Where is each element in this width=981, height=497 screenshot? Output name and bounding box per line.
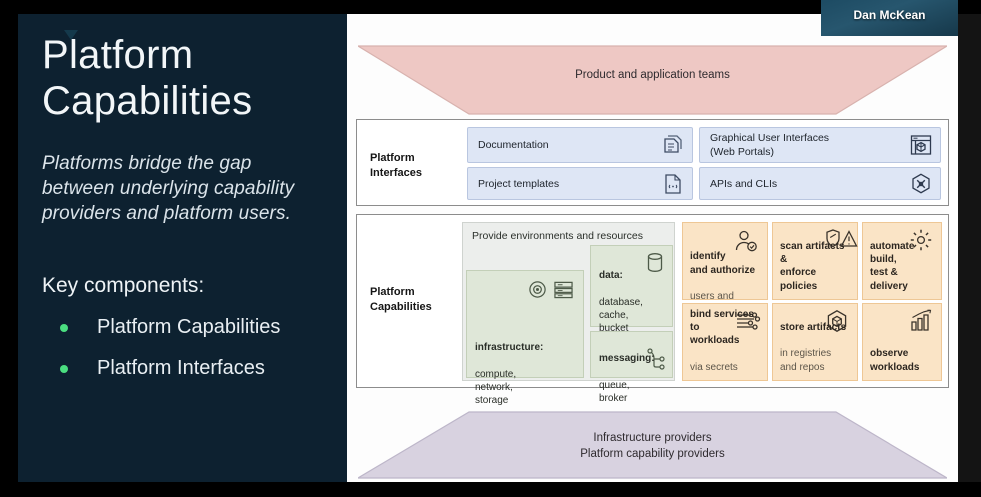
- scan-card-text: scan artifacts & enforce policies: [780, 227, 853, 293]
- bar-chart-growth-icon: [909, 309, 935, 333]
- infrastructure-card-body: compute, network, storage: [475, 369, 516, 406]
- capability-card-data[interactable]: data: database, cache, bucket: [590, 245, 673, 327]
- participant-name-label: Dan McKean: [821, 8, 958, 22]
- screenshot-root: Platform Capabilities Platforms bridge t…: [0, 0, 981, 497]
- capability-card-scan-artifacts[interactable]: scan artifacts & enforce policies: [772, 222, 858, 300]
- video-tile-pointer-icon: [64, 30, 78, 40]
- data-card-text: data: database, cache, bucket: [599, 256, 643, 335]
- automate-card-title: automate build, test & delivery: [870, 241, 914, 292]
- capability-card-messaging[interactable]: messaging: queue, broker: [590, 331, 673, 378]
- right-edge-strip: [958, 14, 981, 482]
- key-components-list: Platform Capabilities Platform Interface…: [42, 316, 323, 380]
- list-item-label: Platform Interfaces: [97, 357, 265, 380]
- automate-card-text: automate build, test & delivery: [870, 227, 937, 293]
- store-card-title: store artifacts: [780, 322, 846, 333]
- store-card-text: store artifacts in registries and repos: [780, 308, 853, 374]
- bullet-dot-icon: [60, 365, 68, 373]
- page-title: Platform Capabilities: [42, 32, 323, 125]
- hexagon-tools-icon: [909, 172, 933, 196]
- messaging-card-title: messaging:: [599, 353, 655, 364]
- chip-icon: [528, 280, 547, 304]
- infrastructure-icon-group: [528, 280, 574, 304]
- identify-card-title: identify and authorize: [690, 251, 755, 275]
- platform-interfaces-section: Platform Interfaces Documentation Graphi…: [356, 119, 949, 206]
- participant-video-tile[interactable]: Dan McKean: [821, 0, 958, 36]
- server-rack-icon: [553, 280, 574, 304]
- diagram-slide-area: Product and application teams Platform I…: [347, 14, 958, 482]
- list-item: Platform Capabilities: [42, 316, 323, 339]
- bind-card-body: via secrets: [690, 362, 738, 373]
- platform-capabilities-label: Platform Capabilities: [370, 285, 432, 315]
- bind-card-title: bind services to workloads: [690, 309, 754, 347]
- product-application-teams-band: Product and application teams: [358, 45, 947, 115]
- observe-card-text: observe workloads: [870, 334, 937, 374]
- data-card-body: database, cache, bucket: [599, 297, 643, 334]
- interface-tile-documentation[interactable]: Documentation: [467, 127, 693, 163]
- messaging-card-text: messaging: queue, broker: [599, 339, 655, 405]
- bottom-band-label: Infrastructure providers Platform capabi…: [358, 430, 947, 463]
- infrastructure-providers-band: Infrastructure providers Platform capabi…: [358, 411, 947, 479]
- left-content-panel: Platform Capabilities Platforms bridge t…: [18, 14, 347, 482]
- interface-tile-apis-and-clis[interactable]: APIs and CLIs: [699, 167, 941, 200]
- interface-tile-label: Graphical User Interfaces (Web Portals): [710, 131, 829, 159]
- observe-card-title: observe workloads: [870, 348, 919, 372]
- key-components-heading: Key components:: [42, 274, 323, 298]
- interface-tile-graphical-user-interfaces[interactable]: Graphical User Interfaces (Web Portals): [699, 127, 941, 163]
- list-item-label: Platform Capabilities: [97, 316, 280, 339]
- messaging-card-body: queue, broker: [599, 380, 630, 404]
- database-cylinder-icon: [645, 252, 665, 274]
- top-band-label: Product and application teams: [358, 67, 947, 83]
- code-document-icon: [661, 172, 685, 196]
- capability-card-infrastructure[interactable]: infrastructure: compute, network, storag…: [466, 270, 584, 378]
- provide-environments-title: Provide environments and resources: [472, 229, 650, 243]
- capability-card-automate-build[interactable]: automate build, test & delivery: [862, 222, 942, 300]
- interface-tile-label: Project templates: [478, 176, 559, 190]
- bind-card-text: bind services to workloads via secrets: [690, 294, 763, 374]
- list-item: Platform Interfaces: [42, 357, 323, 380]
- scan-card-title: scan artifacts & enforce policies: [780, 241, 844, 292]
- page-subtitle: Platforms bridge the gap between underly…: [42, 151, 323, 226]
- interface-tile-label: APIs and CLIs: [710, 176, 777, 190]
- capability-card-store-artifacts[interactable]: store artifacts in registries and repos: [772, 303, 858, 381]
- infrastructure-card-text: infrastructure: compute, network, storag…: [475, 328, 543, 407]
- platform-interfaces-label: Platform Interfaces: [370, 151, 422, 181]
- store-card-body: in registries and repos: [780, 348, 831, 372]
- capability-card-bind-services[interactable]: bind services to workloads via secrets: [682, 303, 768, 381]
- bullet-dot-icon: [60, 324, 68, 332]
- documents-icon: [661, 133, 685, 157]
- capability-card-observe-workloads[interactable]: observe workloads: [862, 303, 942, 381]
- capability-card-identify-and-authorize[interactable]: identify and authorize users and service…: [682, 222, 768, 300]
- interface-tile-project-templates[interactable]: Project templates: [467, 167, 693, 200]
- provide-environments-group: Provide environments and resources: [462, 222, 675, 381]
- platform-capabilities-section: Platform Capabilities Provide environmen…: [356, 214, 949, 388]
- browser-window-cube-icon: [909, 133, 933, 157]
- infrastructure-card-title: infrastructure:: [475, 342, 543, 353]
- data-card-title: data:: [599, 270, 623, 281]
- interface-tile-label: Documentation: [478, 138, 549, 152]
